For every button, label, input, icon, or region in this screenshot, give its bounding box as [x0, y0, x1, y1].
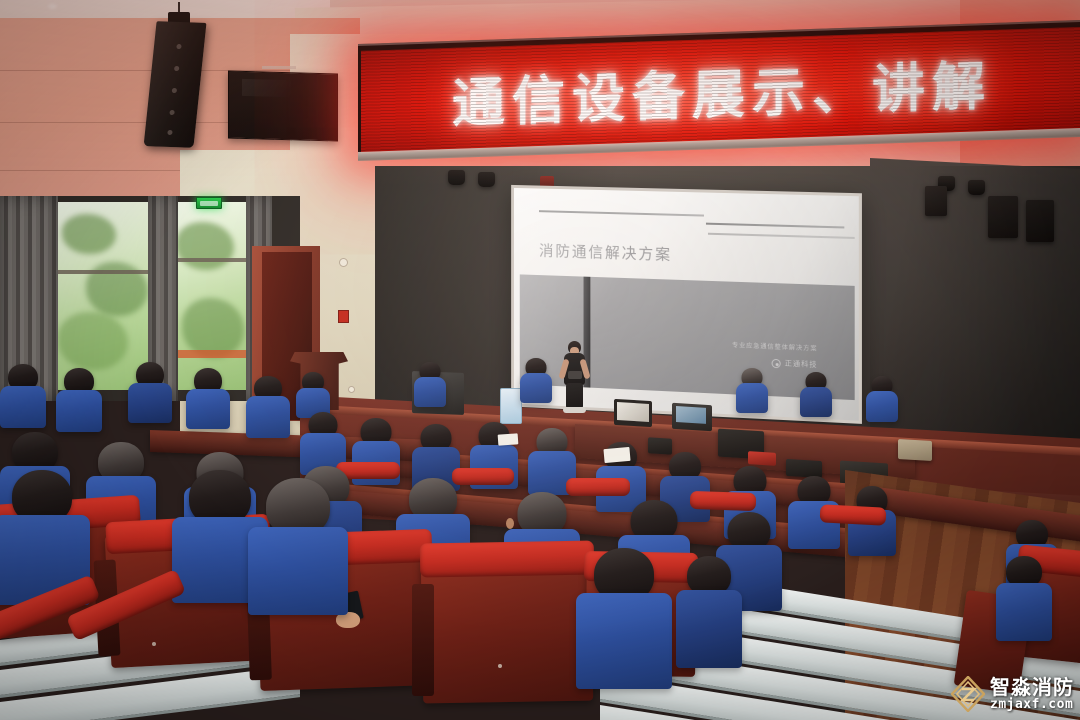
product-box: [500, 388, 522, 424]
seat-screw: [498, 664, 502, 668]
presenter-shoes: [563, 407, 586, 413]
audience-member: [296, 372, 330, 416]
audience-member: [186, 368, 230, 428]
audience-ear: [506, 518, 514, 529]
watermark-brand: 智淼消防: [990, 677, 1074, 698]
audience-member: [676, 556, 742, 666]
monitor-icon: [614, 399, 652, 427]
audience-member: [248, 478, 348, 614]
seat-screw: [152, 642, 156, 646]
ceiling-light-dot: [48, 4, 57, 9]
auditorium-photo: 通信设备展示、讲解 消防通信解决方案 专业应急通信整体解决方案 正通科技: [0, 0, 1080, 720]
presenter-handheld-device: [568, 371, 582, 379]
presenter: [559, 341, 589, 413]
watermark: 智淼消防 zmjaxf.com: [951, 676, 1074, 712]
window-pane: [172, 202, 250, 390]
equipment-case: [898, 439, 932, 461]
seat-armrest: [412, 584, 434, 696]
slide-subtitle: 专业应急通信整体解决方案: [732, 340, 817, 353]
audience-member: [128, 362, 172, 422]
watermark-url: zmjaxf.com: [990, 698, 1074, 712]
display-mount: [262, 66, 296, 69]
slide-brand-text: 正通科技: [785, 358, 818, 370]
presenter-legs: [566, 383, 583, 409]
circle-mark-icon: [772, 358, 781, 367]
audience-member: [736, 368, 768, 412]
audience-member: [520, 358, 552, 402]
seat-backrest: [820, 504, 887, 525]
watermark-text: 智淼消防 zmjaxf.com: [990, 677, 1074, 712]
audience-member: [246, 376, 290, 436]
wall-fixture-icon: [339, 258, 348, 267]
notebook: [498, 433, 519, 445]
seat-backrest: [690, 491, 757, 511]
wall-fixture-icon: [348, 386, 355, 393]
notebook: [603, 447, 630, 463]
audience-member: [996, 556, 1052, 640]
audience-member: [800, 372, 832, 416]
audience-member: [414, 362, 446, 406]
slide-brand-row: 正通科技: [772, 358, 818, 370]
audience-member: [56, 368, 102, 430]
audience-member: [866, 376, 898, 422]
fire-alarm-call-point-icon: [338, 310, 349, 323]
slide-title: 消防通信解决方案: [539, 240, 672, 265]
audience-member: [576, 548, 672, 688]
wall-display-icon: [228, 70, 338, 141]
diamond-z-logo-icon: [951, 676, 985, 712]
radio-handset-icon: [748, 451, 776, 466]
seat-backrest: [420, 540, 595, 577]
audience-member: [0, 364, 46, 426]
exit-sign-icon: [196, 197, 222, 209]
laptop-icon: [672, 403, 712, 431]
